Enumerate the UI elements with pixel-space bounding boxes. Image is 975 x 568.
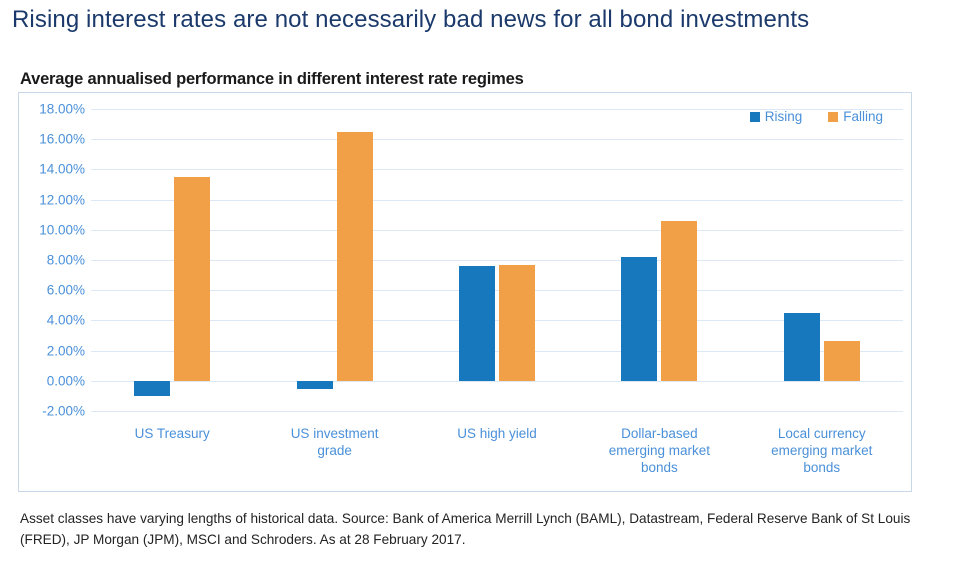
bar-group: Local currencyemerging marketbonds [741,93,903,491]
bar-falling[interactable] [824,341,860,381]
page-title: Rising interest rates are not necessaril… [12,4,962,36]
bar-rising[interactable] [784,313,820,381]
bar-rising[interactable] [297,381,333,389]
x-axis-category-label-line: Local currency [741,425,903,442]
bars-layer: US TreasuryUS investmentgradeUS high yie… [91,93,903,491]
y-axis-tick-label: 6.00% [47,283,85,298]
x-axis-category-label-line: bonds [741,459,903,476]
y-axis-tick-label: 0.00% [47,373,85,388]
legend-item-rising[interactable]: Rising [750,109,803,124]
x-axis-category-label-line: US high yield [416,425,578,442]
chart-plot-frame: 18.00%16.00%14.00%12.00%10.00%8.00%6.00%… [18,92,912,492]
x-axis-category-label: US investmentgrade [253,425,415,459]
bar-falling[interactable] [174,177,210,381]
bar-falling[interactable] [499,265,535,381]
x-axis-category-label-line: US Treasury [91,425,253,442]
bar-rising[interactable] [459,266,495,381]
y-axis-tick-label: 12.00% [39,192,85,207]
y-axis-tick-label: 16.00% [39,132,85,147]
x-axis-category-label-line: Dollar-based [578,425,740,442]
chart-footnote: Asset classes have varying lengths of hi… [20,508,950,550]
bar-falling[interactable] [661,221,697,381]
x-axis-category-label-line: US investment [253,425,415,442]
legend-item-falling[interactable]: Falling [828,109,883,124]
bar-group: US investmentgrade [253,93,415,491]
chart-legend: RisingFalling [750,109,883,124]
y-axis-tick-label: 4.00% [47,313,85,328]
bar-falling[interactable] [337,132,373,381]
y-axis-tick-label: 8.00% [47,253,85,268]
chart-title: Average annualised performance in differ… [20,70,524,89]
legend-swatch-icon [750,112,760,122]
bar-rising[interactable] [621,257,657,381]
x-axis-category-label: US Treasury [91,425,253,442]
x-axis-category-label-line: emerging market [578,442,740,459]
legend-label: Falling [843,109,883,124]
y-axis-tick-label: 10.00% [39,222,85,237]
x-axis-category-label: Local currencyemerging marketbonds [741,425,903,476]
x-axis-category-label-line: bonds [578,459,740,476]
bar-group: Dollar-basedemerging marketbonds [578,93,740,491]
bar-group: US high yield [416,93,578,491]
x-axis-category-label-line: grade [253,442,415,459]
bar-rising[interactable] [134,381,170,396]
bar-group: US Treasury [91,93,253,491]
legend-swatch-icon [828,112,838,122]
y-axis-tick-label: 2.00% [47,343,85,358]
x-axis-category-label: US high yield [416,425,578,442]
plot-area: US TreasuryUS investmentgradeUS high yie… [91,93,903,491]
legend-label: Rising [765,109,803,124]
y-axis-tick-label: 14.00% [39,162,85,177]
y-axis: 18.00%16.00%14.00%12.00%10.00%8.00%6.00%… [19,93,91,491]
chart-block: Average annualised performance in differ… [18,64,948,494]
x-axis-category-label: Dollar-basedemerging marketbonds [578,425,740,476]
x-axis-category-label-line: emerging market [741,442,903,459]
y-axis-tick-label: 18.00% [39,102,85,117]
y-axis-tick-label: -2.00% [42,404,85,419]
